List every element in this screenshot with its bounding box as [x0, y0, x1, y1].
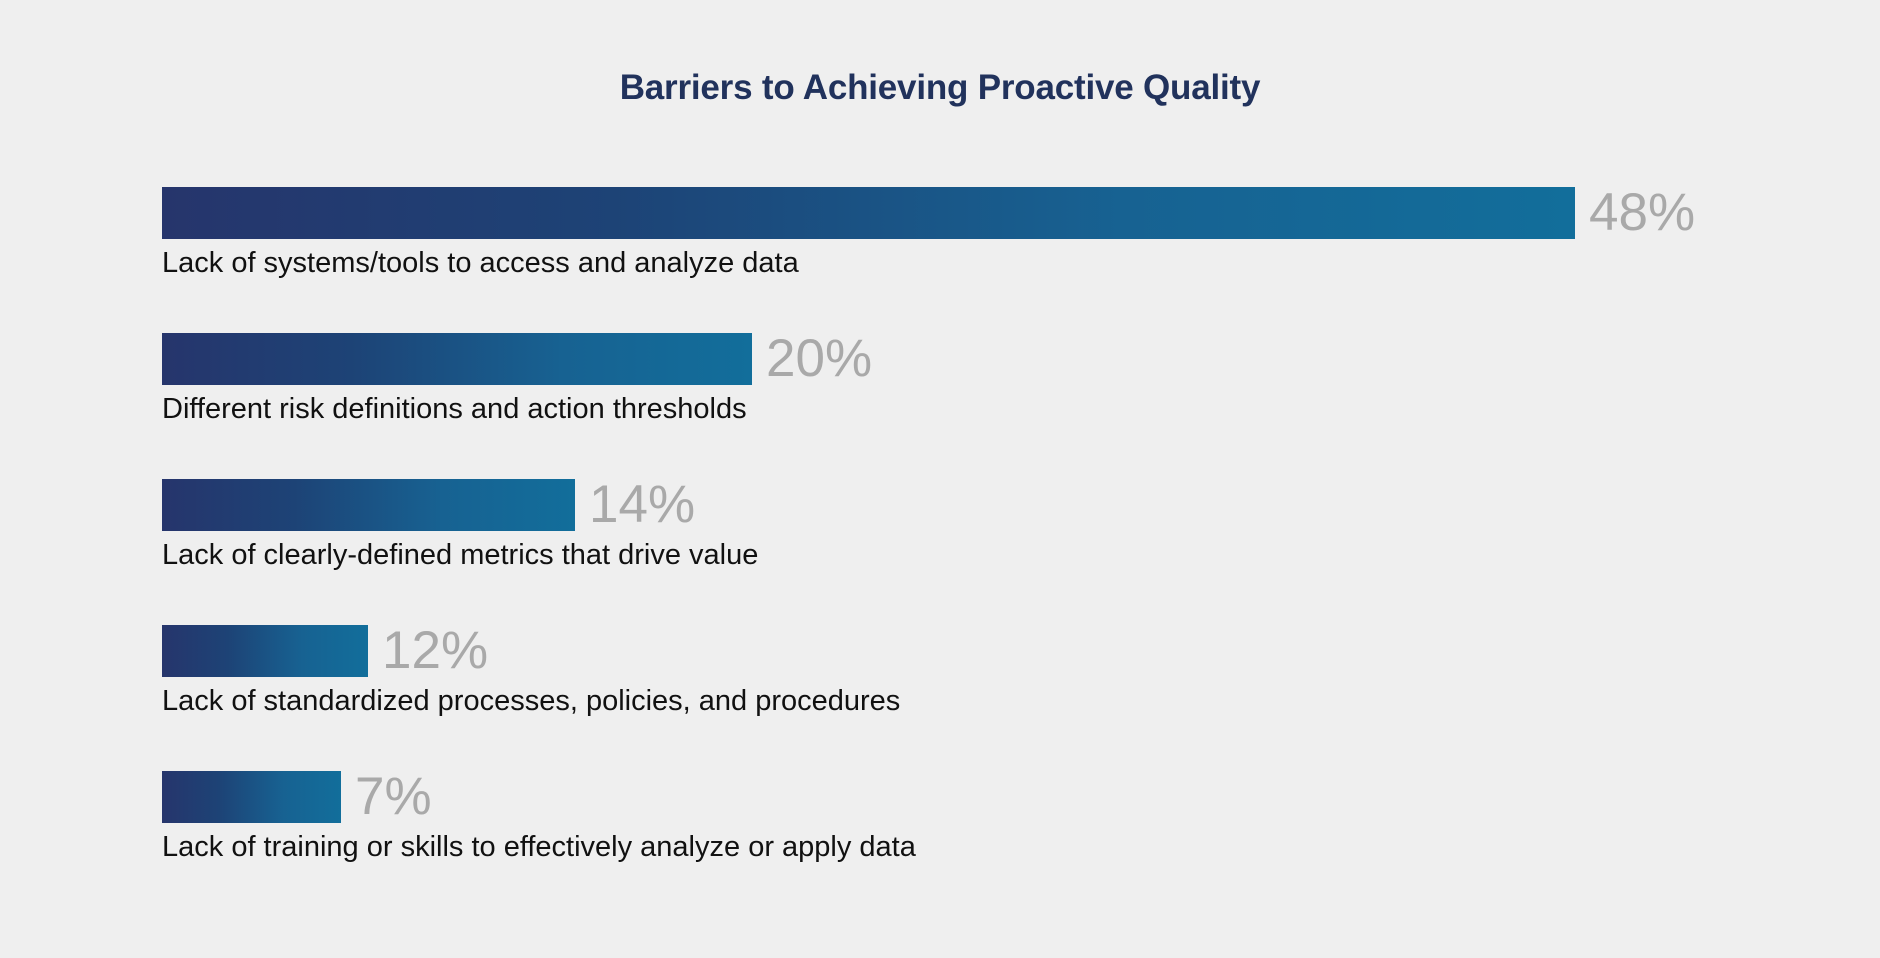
bar-row: 48% Lack of systems/tools to access and …	[162, 186, 1862, 332]
chart-container: Barriers to Achieving Proactive Quality …	[0, 0, 1880, 958]
bar-fill[interactable]	[162, 625, 368, 677]
bar-line: 20%	[162, 332, 1862, 386]
bar-value-label: 14%	[589, 479, 695, 531]
bar-category-label: Lack of training or skills to effectivel…	[162, 831, 1862, 864]
bar-value-label: 7%	[355, 771, 432, 823]
bar-line: 14%	[162, 478, 1862, 532]
bar-category-label: Different risk definitions and action th…	[162, 393, 1862, 426]
bar-value-label: 48%	[1589, 187, 1695, 239]
bar-line: 7%	[162, 770, 1862, 824]
bar-line: 48%	[162, 186, 1862, 240]
bar-fill[interactable]	[162, 771, 341, 823]
bar-row: 7% Lack of training or skills to effecti…	[162, 770, 1862, 916]
bar-fill[interactable]	[162, 479, 575, 531]
bar-row: 20% Different risk definitions and actio…	[162, 332, 1862, 478]
bar-fill[interactable]	[162, 333, 752, 385]
bar-fill[interactable]	[162, 187, 1575, 239]
bar-list: 48% Lack of systems/tools to access and …	[162, 186, 1862, 916]
bar-line: 12%	[162, 624, 1862, 678]
bar-value-label: 12%	[382, 625, 488, 677]
bar-category-label: Lack of clearly-defined metrics that dri…	[162, 539, 1862, 572]
bar-row: 12% Lack of standardized processes, poli…	[162, 624, 1862, 770]
bar-category-label: Lack of standardized processes, policies…	[162, 685, 1862, 718]
bar-row: 14% Lack of clearly-defined metrics that…	[162, 478, 1862, 624]
bar-category-label: Lack of systems/tools to access and anal…	[162, 247, 1862, 280]
chart-title: Barriers to Achieving Proactive Quality	[0, 68, 1880, 108]
bar-value-label: 20%	[766, 333, 872, 385]
